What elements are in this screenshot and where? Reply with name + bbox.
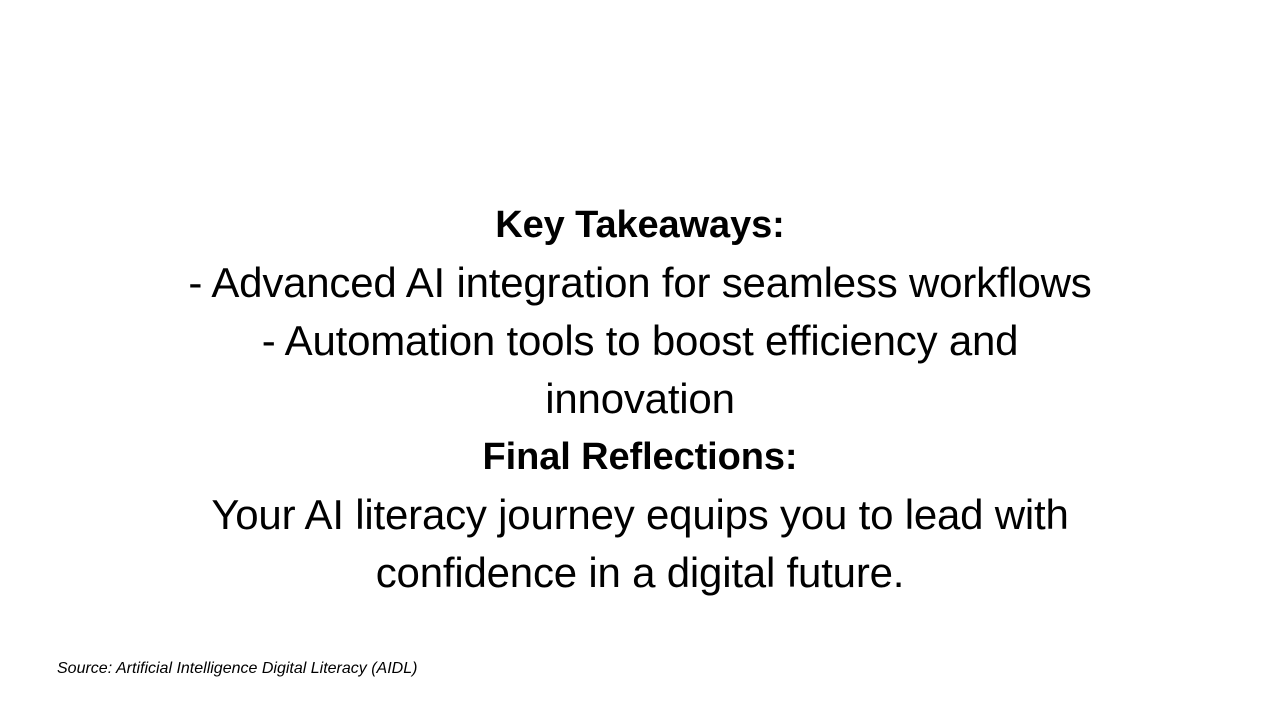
key-takeaway-item-1: - Advanced AI integration for seamless w… — [187, 254, 1093, 312]
final-reflections-body: Your AI literacy journey equips you to l… — [187, 486, 1093, 602]
source-attribution: Source: Artificial Intelligence Digital … — [57, 659, 417, 679]
slide-content-block: Key Takeaways: - Advanced AI integration… — [187, 196, 1093, 602]
key-takeaway-item-2: - Automation tools to boost efficiency a… — [187, 312, 1093, 428]
slide-canvas: Key Takeaways: - Advanced AI integration… — [0, 0, 1280, 720]
key-takeaways-heading: Key Takeaways: — [187, 196, 1093, 254]
final-reflections-heading: Final Reflections: — [187, 428, 1093, 486]
